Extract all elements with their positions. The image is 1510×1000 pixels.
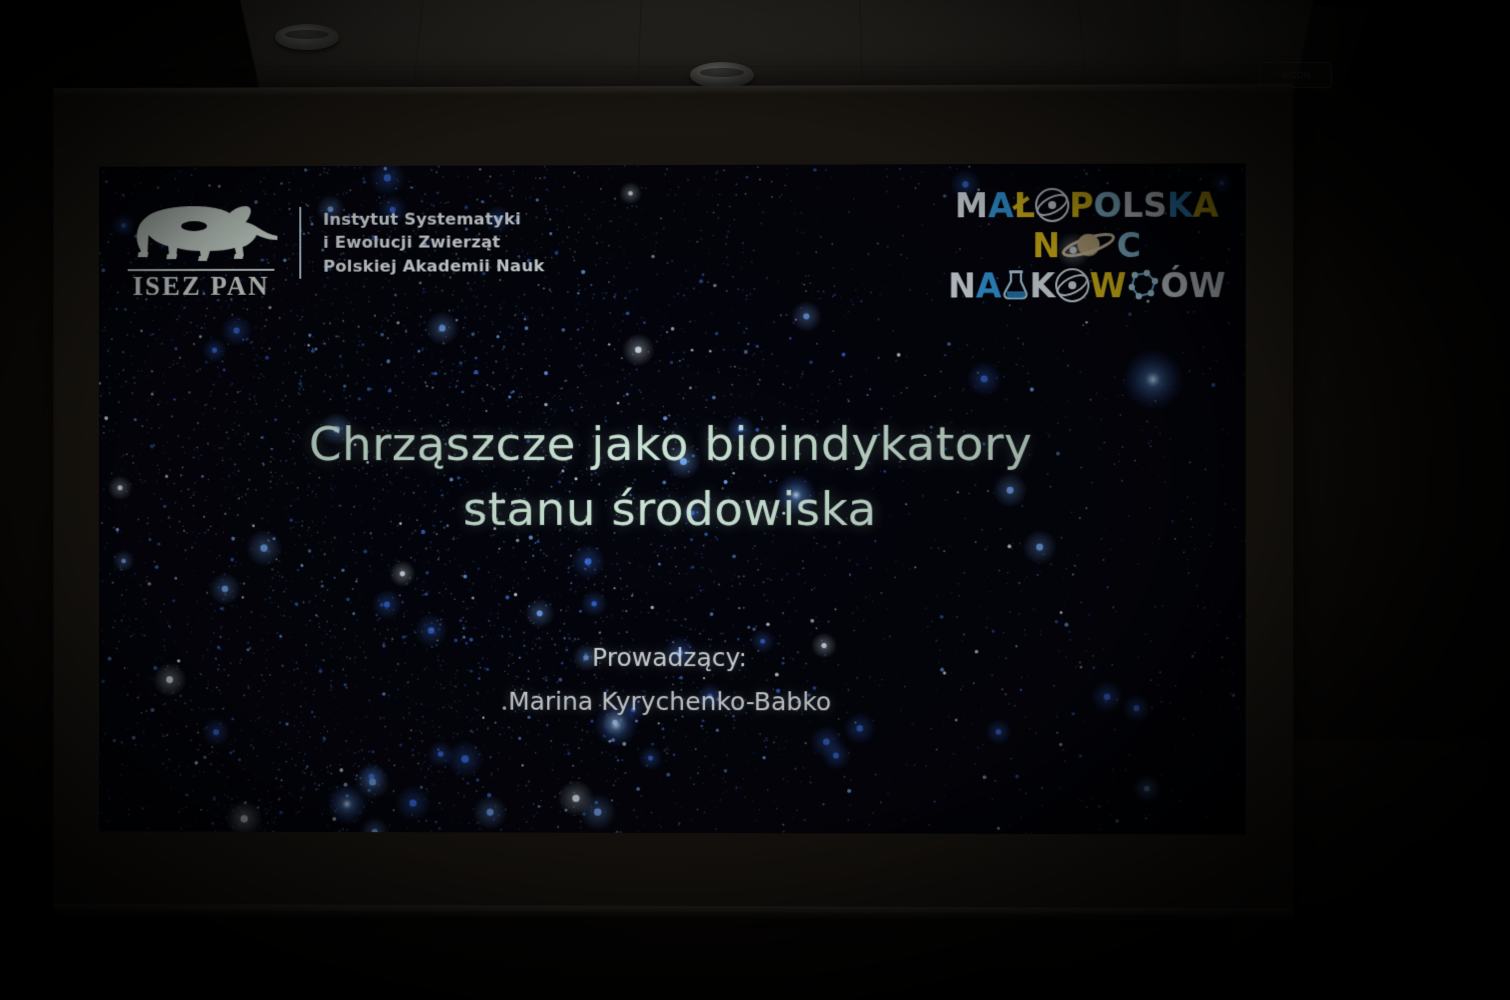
logo-letter-s: S [1143, 188, 1167, 221]
logo-letter-w2: W [1189, 268, 1226, 301]
saturn-icon [1060, 228, 1116, 262]
logo-letter-a3: A [976, 269, 1002, 302]
logo-letter-p: P [1069, 188, 1093, 221]
logo-letter-l-stroke: Ł [1014, 189, 1035, 222]
smoke-detector-icon [275, 24, 339, 50]
institute-name-line-2: i Ewolucji Zwierząt [323, 231, 544, 255]
flask-icon [1001, 269, 1029, 301]
logo-letter-m: M [955, 189, 988, 222]
isez-acronym: ISEZ PAN [123, 272, 280, 301]
institute-logo: ISEZ PAN Instytut Systematyki i Ewolucji… [123, 185, 545, 300]
institute-name-line-1: Instytut Systematyki [323, 207, 544, 231]
logo-letter-c: C [1117, 228, 1141, 261]
slide-presenter-block: Prowadzący: Marina Kyrychenko-Babko [99, 638, 1246, 721]
logo-letter-k2: K [1030, 269, 1056, 302]
logo-letter-w: W [1090, 269, 1127, 302]
institute-name-line-3: Polskiej Akademii Nauk [323, 254, 544, 278]
logo-letter-o-acute: Ó [1161, 268, 1189, 301]
presentation-slide: ISEZ PAN Instytut Systematyki i Ewolucji… [99, 163, 1246, 834]
logo-letter-o: O [1094, 188, 1122, 221]
ceiling-vent-icon [742, 2, 794, 22]
presenter-name: Marina Kyrychenko-Babko [99, 682, 1246, 722]
logo-letter-n: N [1032, 229, 1060, 262]
rhinoceros-icon [123, 186, 280, 268]
projection-screen: ISEZ PAN Instytut Systematyki i Ewolucji… [53, 84, 1293, 914]
logo-letter-k: K [1167, 188, 1193, 221]
event-logo-row-malopolska: M A Ł P O L S K A [948, 187, 1226, 222]
logo-letter-l: L [1122, 188, 1143, 221]
slide-header: ISEZ PAN Instytut Systematyki i Ewolucji… [99, 163, 1246, 345]
slide-title: Chrząszcze jako bioindykatory stanu środ… [99, 413, 1246, 543]
event-logo: M A Ł P O L S K A N [948, 187, 1226, 302]
event-logo-row-naukowcow: N A K W [948, 268, 1226, 303]
logo-vertical-divider [299, 207, 301, 279]
institute-name: Instytut Systematyki i Ewolucji Zwierząt… [323, 207, 544, 278]
logo-letter-n2: N [948, 269, 976, 302]
isez-emblem: ISEZ PAN [123, 186, 280, 300]
slide-title-line-2: stanu środowiska [99, 478, 1246, 543]
slide-title-line-1: Chrząszcze jako bioindykatory [99, 413, 1246, 478]
event-logo-row-noc: N C [948, 228, 1226, 263]
lecture-room-photo: RICOH ISEZ P [0, 0, 1510, 1000]
atom-icon [1055, 268, 1089, 302]
atom-icon [1035, 188, 1069, 222]
smoke-detector-icon [690, 62, 754, 88]
presenter-label: Prowadzący: [99, 638, 1246, 677]
logo-letter-a: A [988, 189, 1014, 222]
logo-letter-a2: A [1193, 188, 1219, 221]
molecule-icon [1126, 269, 1160, 301]
